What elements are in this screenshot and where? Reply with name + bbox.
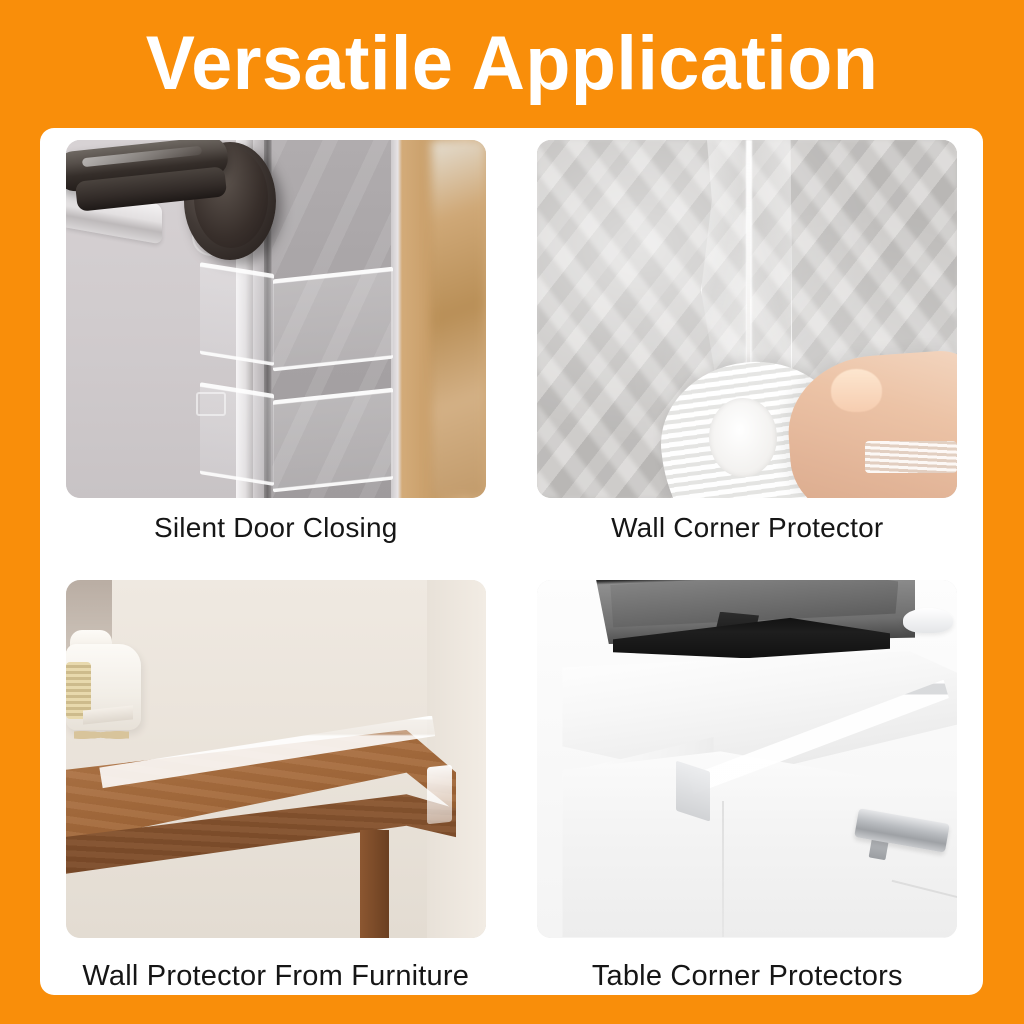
page-title: Versatile Application: [15, 16, 1008, 112]
edge-protector-end-cap: [427, 764, 452, 824]
background-blur-warm: [431, 140, 486, 498]
corner-protector-strip: [273, 388, 393, 493]
cabinet-drawer-seam: [722, 801, 724, 937]
panel-table-corner-protectors: Table Corner Protectors: [512, 562, 984, 996]
panel-silent-door-closing: Silent Door Closing: [40, 128, 512, 562]
panel-grid: Silent Door Closing Wall Corner: [40, 128, 983, 995]
photo-silent-door-closing: [66, 140, 486, 498]
clear-tape-fold-seam: [746, 140, 752, 394]
clear-tape-right-face: [749, 140, 792, 398]
tape-tail: [865, 441, 957, 473]
edge-protector-end-cap: [676, 760, 710, 821]
panel-card: Silent Door Closing Wall Corner: [40, 128, 983, 995]
panel-wall-corner-protector: Wall Corner Protector: [512, 128, 984, 562]
desk-leg: [360, 830, 389, 937]
caption-wall-protector-from-furniture: Wall Protector From Furniture: [82, 960, 469, 993]
tape-roll-core: [709, 398, 776, 477]
speaker-legs: [74, 728, 129, 742]
photo-wall-protector-from-furniture: [66, 580, 486, 938]
caption-silent-door-closing: Silent Door Closing: [154, 512, 397, 544]
corner-protector-strip: [273, 267, 393, 372]
poster-root: Versatile Application: [0, 0, 1024, 1024]
panel-wall-protector-from-furniture: Wall Protector From Furniture: [40, 562, 512, 996]
corner-protector-strip: [200, 262, 274, 366]
photo-table-corner-protectors: [537, 580, 957, 938]
caption-table-corner-protectors: Table Corner Protectors: [592, 960, 903, 993]
caption-wall-corner-protector: Wall Corner Protector: [611, 512, 883, 544]
photo-wall-corner-protector: [537, 140, 957, 498]
fingernail: [831, 369, 881, 412]
corner-protector-strip: [200, 382, 274, 486]
decor-bowl: [903, 608, 953, 633]
